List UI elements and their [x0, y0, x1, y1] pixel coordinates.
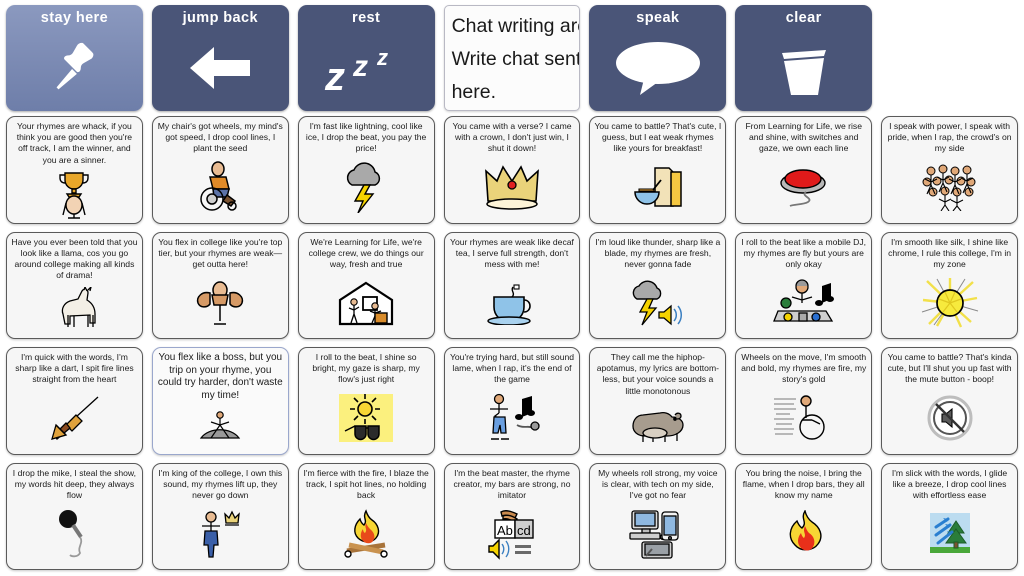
teacup-icon [449, 270, 576, 335]
phrase-text: You bring the noise, I bring the flame, … [740, 468, 867, 502]
thunder-speaker-icon [594, 270, 721, 335]
red-switch-button-icon [740, 155, 867, 220]
nav-button-stay-here[interactable]: stay here [6, 5, 143, 111]
phrase-text: I'm fast like lightning, cool like ice, … [303, 121, 430, 155]
chat-line: Chat writing area [452, 10, 573, 43]
chat-writing-area[interactable]: Chat writing area Write chat sentences h… [444, 5, 581, 111]
toolbar: stay here jump back rest [6, 5, 1018, 111]
zzz-icon: z z z [298, 26, 435, 112]
phrase-card[interactable]: I roll to the beat like a mobile DJ, my … [735, 232, 872, 340]
phrase-card-selected[interactable]: You flex like a boss, but you trip on yo… [152, 347, 289, 455]
phrase-grid: Your rhymes are whack, if you think you … [6, 116, 1018, 570]
arrow-left-icon [152, 26, 289, 112]
pin-icon [6, 26, 143, 112]
phrase-text: You came to battle? That's cute, I guess… [594, 121, 721, 155]
phrase-text: I'm king of the college, I own this soun… [157, 468, 284, 502]
flexing-muscles-icon [157, 270, 284, 335]
phrase-card[interactable]: We're Learning for Life, we're college c… [298, 232, 435, 340]
svg-text:Ab: Ab [497, 523, 513, 538]
phrase-card[interactable]: You came with a verse? I came with a cro… [444, 116, 581, 224]
svg-text:cd: cd [517, 523, 531, 538]
nav-button-label: clear [786, 11, 822, 26]
phrase-card[interactable]: My wheels roll strong, my voice is clear… [589, 463, 726, 571]
hippopotamus-icon [594, 397, 721, 451]
phrase-text: You're trying hard, but still sound lame… [449, 352, 576, 386]
phrase-card[interactable]: You bring the noise, I bring the flame, … [735, 463, 872, 571]
phrase-card[interactable]: Your rhymes are whack, if you think you … [6, 116, 143, 224]
flame-icon [740, 501, 867, 566]
chat-line: here. [452, 76, 573, 109]
phrase-text: My chair's got wheels, my mind's got spe… [157, 121, 284, 155]
phrase-card[interactable]: I'm fast like lightning, cool like ice, … [298, 116, 435, 224]
phrase-text: I'm fierce with the fire, I blaze the tr… [303, 468, 430, 502]
phrase-card[interactable]: You came to battle? That's kinda cute, b… [881, 347, 1018, 455]
phrase-card[interactable]: Have you ever been told that you look li… [6, 232, 143, 340]
svg-text:z: z [376, 45, 388, 70]
phrase-text: You flex in college like you're top tier… [157, 237, 284, 271]
sun-sunglasses-icon [303, 386, 430, 451]
nav-button-rest[interactable]: rest z z z [298, 5, 435, 111]
phrase-text: From Learning for Life, we rise and shin… [740, 121, 867, 155]
nav-button-jump-back[interactable]: jump back [152, 5, 289, 111]
wheelchair-user-icon [157, 155, 284, 220]
phrase-text: You came with a verse? I came with a cro… [449, 121, 576, 155]
svg-text:z: z [352, 50, 368, 83]
trash-icon [735, 26, 872, 112]
campfire-icon [303, 501, 430, 566]
phrase-card[interactable]: Wheels on the move, I'm smooth and bold,… [735, 347, 872, 455]
computer-tablet-icon [594, 501, 721, 566]
phrase-text: You flex like a boss, but you trip on yo… [157, 352, 284, 402]
shining-sun-icon [886, 270, 1013, 335]
phrase-card[interactable]: They call me the hiphop-apotamus, my lyr… [589, 347, 726, 455]
phrase-text: They call me the hiphop-apotamus, my lyr… [594, 352, 721, 397]
phrase-text: I'm the beat master, the rhyme creator, … [449, 468, 576, 502]
speech-bubble-icon [589, 26, 726, 112]
phrase-card[interactable]: You came to battle? That's cute, I guess… [589, 116, 726, 224]
singer-microphone-notes-icon [449, 386, 576, 451]
phrase-text: Wheels on the move, I'm smooth and bold,… [740, 352, 867, 386]
phrase-text: I speak with power, I speak with pride, … [886, 121, 1013, 155]
mute-icon [886, 386, 1013, 451]
phrase-card[interactable]: I speak with power, I speak with pride, … [881, 116, 1018, 224]
phrase-text: Your rhymes are weak like decaf tea, I s… [449, 237, 576, 271]
svg-text:z: z [324, 55, 345, 95]
phrase-text: My wheels roll strong, my voice is clear… [594, 468, 721, 502]
phrase-card[interactable]: I'm fierce with the fire, I blaze the tr… [298, 463, 435, 571]
phrase-text: I roll to the beat, I shine so bright, m… [303, 352, 430, 386]
nav-button-label: jump back [183, 11, 258, 26]
phrase-card[interactable]: You're trying hard, but still sound lame… [444, 347, 581, 455]
phrase-card[interactable]: I'm smooth like silk, I shine like chrom… [881, 232, 1018, 340]
phrase-text: I drop the mike, I steal the show, my wo… [11, 468, 138, 502]
dart-icon [11, 386, 138, 451]
wheelchair-text-icon [740, 386, 867, 451]
phrase-card[interactable]: I'm king of the college, I own this soun… [152, 463, 289, 571]
crowd-icon [886, 155, 1013, 220]
nav-button-clear[interactable]: clear [735, 5, 872, 111]
phrase-text: I'm loud like thunder, sharp like a blad… [594, 237, 721, 271]
nav-button-speak[interactable]: speak [589, 5, 726, 111]
phrase-text: Your rhymes are whack, if you think you … [11, 121, 138, 166]
phrase-text: You came to battle? That's kinda cute, b… [886, 352, 1013, 386]
phrase-card[interactable]: I'm slick with the words, I glide like a… [881, 463, 1018, 571]
trophy-icon [11, 166, 138, 220]
phrase-card[interactable]: I'm quick with the words, I'm sharp like… [6, 347, 143, 455]
aac-chat-board: stay here jump back rest [0, 0, 1024, 576]
breeze-tree-icon [886, 501, 1013, 566]
phrase-card[interactable]: I roll to the beat, I shine so bright, m… [298, 347, 435, 455]
phrase-text: I'm smooth like silk, I shine like chrom… [886, 237, 1013, 271]
phrase-text: I roll to the beat like a mobile DJ, my … [740, 237, 867, 271]
phrase-card[interactable]: I drop the mike, I steal the show, my wo… [6, 463, 143, 571]
phrase-card[interactable]: My chair's got wheels, my mind's got spe… [152, 116, 289, 224]
house-moving-icon [303, 270, 430, 335]
microphone-icon [11, 501, 138, 566]
nav-button-label: stay here [41, 11, 108, 26]
cereal-breakfast-icon [594, 155, 721, 220]
phrase-card[interactable]: I'm loud like thunder, sharp like a blad… [589, 232, 726, 340]
nav-button-label: rest [352, 11, 380, 26]
phrase-card[interactable]: I'm the beat master, the rhyme creator, … [444, 463, 581, 571]
phrase-text: We're Learning for Life, we're college c… [303, 237, 430, 271]
crown-icon [449, 155, 576, 220]
abcd-speaker-icon: Ab cd [449, 501, 576, 566]
phrase-text: I'm slick with the words, I glide like a… [886, 468, 1013, 502]
phrase-card[interactable]: From Learning for Life, we rise and shin… [735, 116, 872, 224]
storm-cloud-lightning-icon [303, 155, 430, 220]
trip-fall-icon [157, 402, 284, 450]
chat-line: Write chat sentences [452, 43, 573, 76]
phrase-text: Have you ever been told that you look li… [11, 237, 138, 282]
person-crown-icon [157, 501, 284, 566]
dj-decks-icon [740, 270, 867, 335]
llama-icon [11, 281, 138, 335]
phrase-card[interactable]: Your rhymes are weak like decaf tea, I s… [444, 232, 581, 340]
phrase-text: I'm quick with the words, I'm sharp like… [11, 352, 138, 386]
nav-button-label: speak [636, 11, 679, 26]
phrase-card[interactable]: You flex in college like you're top tier… [152, 232, 289, 340]
